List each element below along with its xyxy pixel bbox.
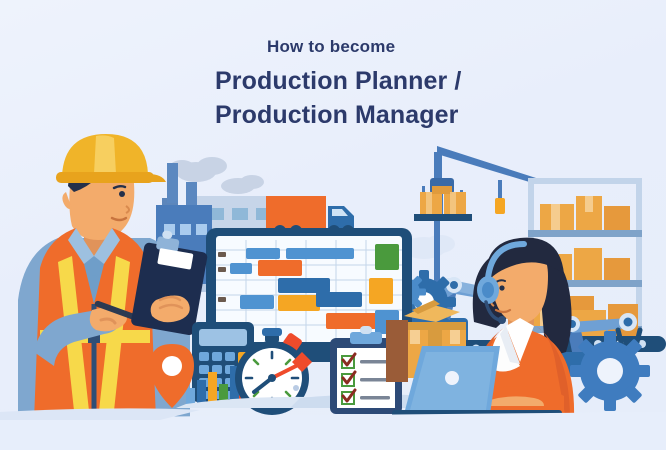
illustration-canvas: How to become Production Planner / Produ…: [0, 0, 666, 450]
foreground-floor: [0, 0, 666, 450]
